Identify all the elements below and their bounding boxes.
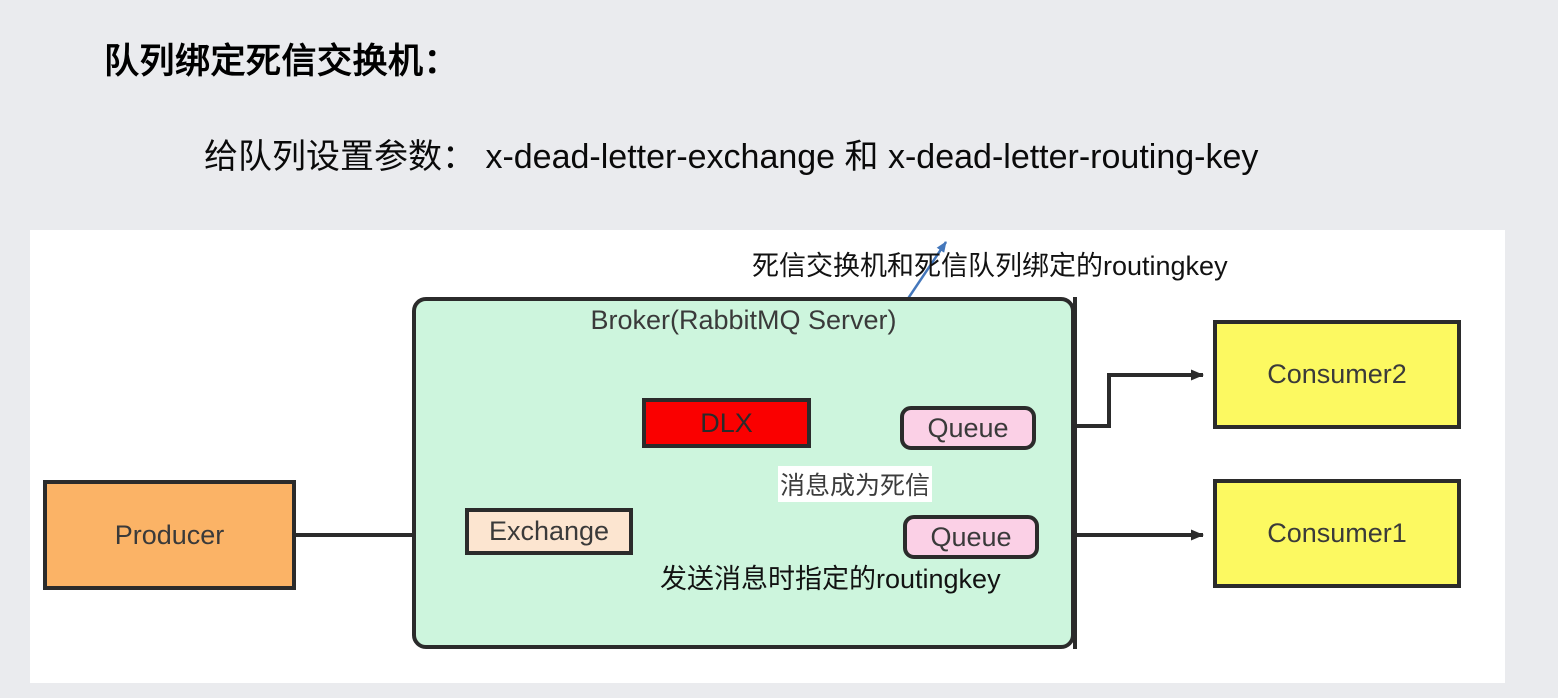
page-subtitle: 给队列设置参数： x-dead-letter-exchange 和 x-dead… (204, 129, 1258, 178)
edge-queue2-to-consumer2 (1075, 375, 1203, 426)
node-queue-dead-letter-label: Queue (927, 413, 1008, 444)
node-exchange-label: Exchange (489, 516, 609, 547)
node-dlx-label: DLX (700, 408, 753, 439)
annotation-dlx-binding-routingkey: 死信交换机和死信队列绑定的routingkey (752, 244, 1228, 283)
page-title: 队列绑定死信交换机： (104, 33, 459, 84)
node-queue-dead-letter[interactable]: Queue (900, 406, 1036, 450)
node-producer[interactable]: Producer (43, 480, 296, 590)
broker-container (412, 297, 1075, 649)
node-consumer1-label: Consumer1 (1267, 518, 1407, 549)
node-queue-normal[interactable]: Queue (903, 515, 1039, 559)
node-consumer2[interactable]: Consumer2 (1213, 320, 1461, 429)
node-exchange[interactable]: Exchange (465, 508, 633, 555)
node-dlx[interactable]: DLX (642, 398, 811, 448)
page-root: 队列绑定死信交换机： 给队列设置参数： x-dead-letter-exchan… (0, 0, 1558, 698)
node-consumer1[interactable]: Consumer1 (1213, 479, 1461, 588)
edge-label-dead-letter: 消息成为死信 (778, 466, 932, 502)
node-consumer2-label: Consumer2 (1267, 359, 1407, 390)
annotation-publish-routingkey: 发送消息时指定的routingkey (660, 557, 1001, 596)
broker-label: Broker(RabbitMQ Server) (412, 305, 1075, 336)
diagram-figure: Broker(RabbitMQ Server) Producer Exchang… (30, 230, 1505, 683)
node-queue-normal-label: Queue (930, 522, 1011, 553)
node-producer-label: Producer (115, 520, 225, 551)
